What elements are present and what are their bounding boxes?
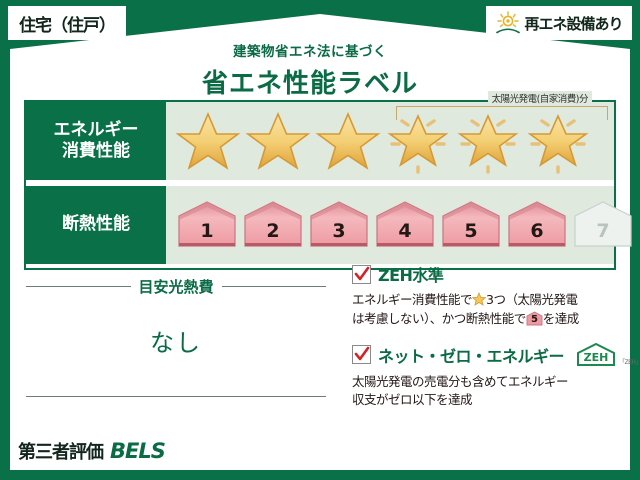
grade-house-3: 3	[308, 200, 370, 250]
grade-house-7: 7	[572, 200, 634, 250]
evaluation-date: 評価日 2025年10月3日	[488, 434, 626, 454]
performance-frame: エネルギー 消費性能 太陽光発電(自家消費)分	[24, 100, 616, 270]
zeh-logo-subtext: 「ZEH」	[619, 357, 640, 368]
check-icon	[354, 346, 370, 363]
energy-performance-rating: 太陽光発電(自家消費)分	[166, 102, 614, 180]
net-zero-energy-checkbox[interactable]	[352, 345, 371, 364]
utility-cost-value: なし	[26, 323, 326, 358]
building-type-chip: 住宅（住戸）	[8, 6, 126, 40]
net-zero-energy-description: 太陽光発電の売電分も含めてエネルギー収支がゼロ以下を達成	[352, 373, 620, 411]
energy-performance-label: エネルギー 消費性能	[26, 102, 166, 180]
utility-cost-header: 目安光熱費	[26, 276, 326, 297]
check-icon	[354, 266, 370, 283]
bels-number-line1: 0285213 - 01	[212, 434, 289, 448]
energy-performance-row: エネルギー 消費性能 太陽光発電(自家消費)分	[26, 102, 614, 180]
zeh-block: ZEH水準 エネルギー消費性能で3つ（太陽光発電は考慮しない）、かつ断熱性能で5…	[352, 262, 620, 410]
sun-renewable-icon	[495, 11, 521, 35]
insulation-performance-row: 断熱性能 1	[26, 186, 614, 264]
bels-jp-label: 第三者評価	[18, 438, 103, 464]
renewable-equipment-label: 再エネ設備あり	[524, 13, 622, 34]
svg-text:ZEH: ZEH	[584, 351, 609, 364]
zeh-logo-icon: ZEH 「ZEH」	[574, 342, 640, 368]
net-zero-energy-header: ネット・ゼロ・エネルギー ZEH 「ZEH」	[352, 342, 620, 368]
zeh-standard-title: ZEH水準	[378, 262, 443, 286]
zeh-standard-header: ZEH水準	[352, 262, 620, 286]
building-type-label: 住宅（住戸）	[19, 11, 115, 36]
divider-right	[222, 286, 327, 287]
solar-bracket	[396, 106, 608, 120]
zeh-standard-checkbox[interactable]	[352, 265, 371, 284]
star-filled	[314, 108, 382, 174]
zeh-standard-description: エネルギー消費性能で3つ（太陽光発電は考慮しない）、かつ断熱性能で5を達成	[352, 291, 620, 329]
grade-scale: 1 2 3	[166, 186, 614, 264]
utility-cost-bottom-rule	[26, 396, 326, 397]
grade-house-6: 6	[506, 200, 568, 250]
insulation-performance-rating: 1 2 3	[166, 186, 614, 264]
bels-number: 0285213 - 01 201	[212, 434, 289, 463]
label-footer: 第三者評価 BELS 0285213 - 01 201 評価日 2025年10月…	[0, 428, 640, 480]
star-filled	[244, 108, 312, 174]
inline-grade-badge: 5	[526, 311, 543, 326]
solar-caption: 太陽光発電(自家消費)分	[488, 91, 592, 105]
utility-cost-block: 目安光熱費 なし	[26, 276, 326, 397]
net-zero-energy-block: ネット・ゼロ・エネルギー ZEH 「ZEH」 太陽光発電の売電分も含めてエネルギ…	[352, 342, 620, 411]
grade-house-4: 4	[374, 200, 436, 250]
evaluation-info: 評価日 2025年10月3日 0cf424ca-aa51-4c10	[488, 434, 626, 466]
grade-house-2: 2	[242, 200, 304, 250]
evaluation-id: 0cf424ca-aa51-4c10	[488, 456, 626, 466]
star-filled	[174, 108, 242, 174]
bels-number-line2: 201	[212, 448, 289, 462]
divider-left	[26, 286, 131, 287]
insulation-performance-label: 断熱性能	[26, 186, 166, 264]
bels-en-label: BELS	[110, 439, 165, 463]
net-zero-energy-title: ネット・ゼロ・エネルギー	[378, 343, 564, 367]
title-subtitle: 建築物省エネ法に基づく	[0, 40, 620, 60]
inline-star-icon	[472, 292, 486, 306]
grade-house-5: 5	[440, 200, 502, 250]
grade-house-1: 1	[176, 200, 238, 250]
bels-badge: 第三者評価 BELS	[10, 434, 173, 468]
renewable-equipment-chip: 再エネ設備あり	[486, 6, 632, 40]
utility-cost-title: 目安光熱費	[139, 276, 214, 297]
